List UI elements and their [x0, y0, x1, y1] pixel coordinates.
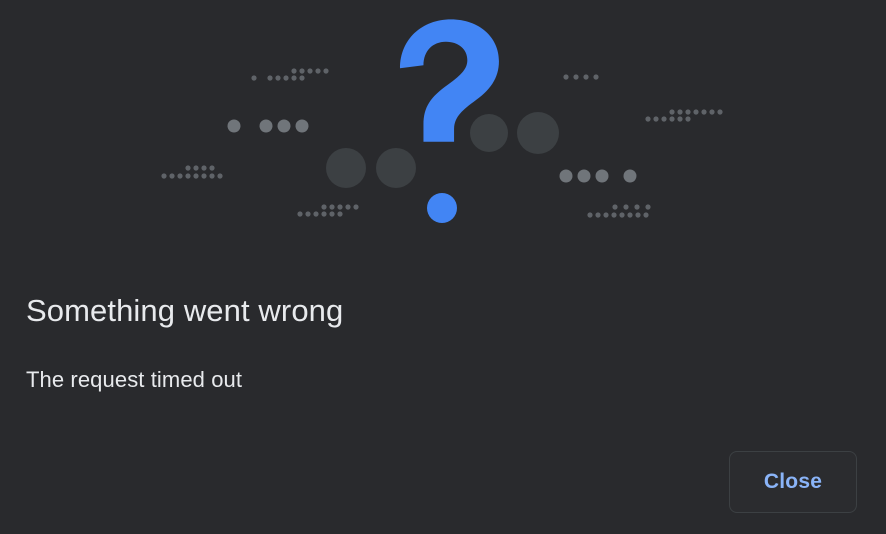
close-button[interactable]: Close [729, 451, 857, 513]
dialog-footer: Close [0, 444, 886, 534]
question-mark-illustration [0, 0, 886, 270]
page-title: Something went wrong [26, 292, 860, 330]
question-mark-dot [427, 193, 457, 223]
error-dialog: Something went wrong The request timed o… [0, 0, 886, 534]
illustration-area [0, 0, 886, 270]
error-message: The request timed out [26, 366, 860, 394]
